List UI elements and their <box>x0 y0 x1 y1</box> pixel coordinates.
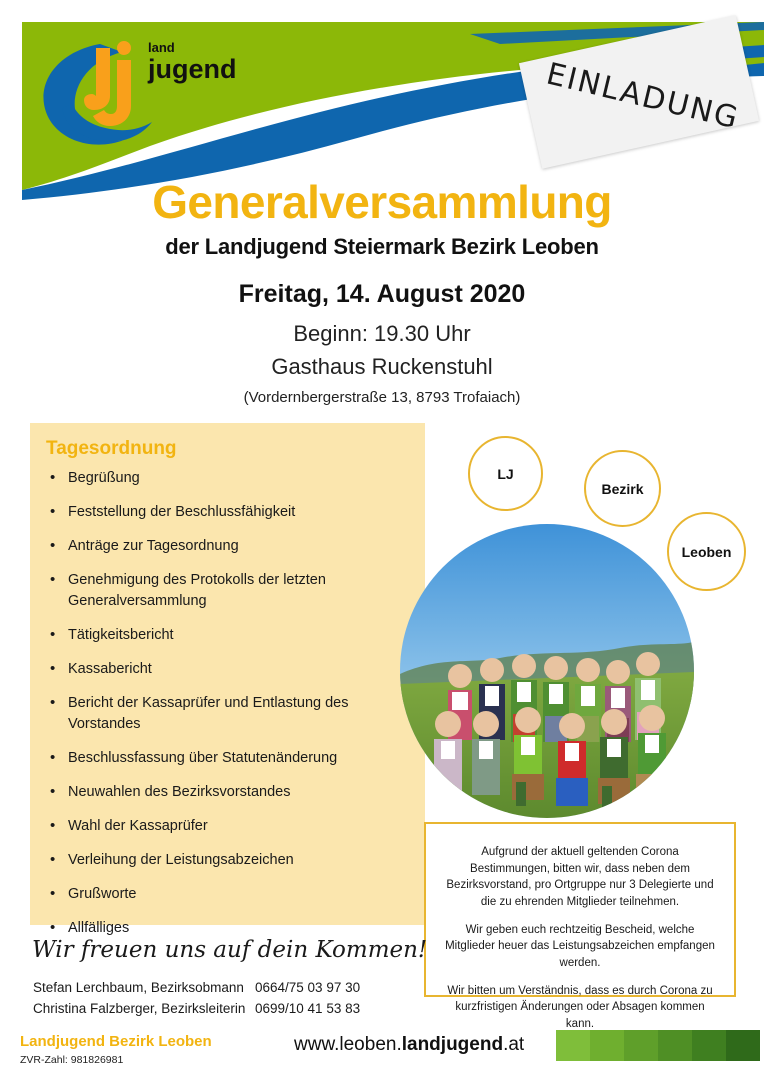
agenda-item: Neuwahlen des Bezirksvorstandes <box>46 782 386 803</box>
footer-color-bar <box>658 1030 692 1061</box>
badge-circle-lj: LJ <box>468 436 543 511</box>
contact-phone: 0699/10 41 53 83 <box>255 999 360 1020</box>
page-subtitle: der Landjugend Steiermark Bezirk Leoben <box>0 234 764 260</box>
contact-name: Stefan Lerchbaum, Bezirksobmann <box>33 978 255 999</box>
footer-color-bar <box>692 1030 726 1061</box>
agenda-item: Begrüßung <box>46 468 386 489</box>
agenda-item: Genehmigung des Protokolls der letzten G… <box>46 570 386 612</box>
badge-circle-leoben: Leoben <box>667 512 746 591</box>
corona-paragraph: Aufgrund der aktuell geltenden Corona Be… <box>442 844 718 911</box>
agenda-item: Tätigkeitsbericht <box>46 625 386 646</box>
event-venue: Gasthaus Ruckenstuhl <box>0 354 764 380</box>
agenda-item: Beschlussfassung über Statutenänderung <box>46 748 386 769</box>
event-date: Freitag, 14. August 2020 <box>0 280 764 309</box>
logo-land-text: land <box>148 40 175 55</box>
footer-color-bar <box>624 1030 658 1061</box>
contact-row: Stefan Lerchbaum, Bezirksobmann 0664/75 … <box>33 978 360 999</box>
agenda-item: Wahl der Kassaprüfer <box>46 816 386 837</box>
title-block: Generalversammlung der Landjugend Steier… <box>0 178 764 406</box>
agenda-item: Kassabericht <box>46 659 386 680</box>
url-suffix: .at <box>503 1034 524 1055</box>
corona-paragraph: Wir bitten um Verständnis, dass es durch… <box>442 983 718 1033</box>
event-address: (Vordernbergerstraße 13, 8793 Trofaiach) <box>0 389 764 406</box>
badge-circle-bezirk: Bezirk <box>584 450 661 527</box>
corona-paragraph: Wir geben euch rechtzeitig Bescheid, wel… <box>442 922 718 972</box>
closing-message: Wir freuen uns auf dein Kommen! <box>32 937 427 963</box>
url-brand: landjugend <box>402 1034 503 1055</box>
contact-row: Christina Falzberger, Bezirksleiterin 06… <box>33 999 360 1020</box>
footer-color-bar <box>556 1030 590 1061</box>
page-title: Generalversammlung <box>0 178 764 226</box>
footer-color-bar <box>726 1030 760 1061</box>
invitation-flyer: land jugend EINLADUNG Generalversammlung… <box>0 0 764 1080</box>
agenda-item: Bericht der Kassaprüfer und Entlastung d… <box>46 693 386 735</box>
event-time: Beginn: 19.30 Uhr <box>0 321 764 347</box>
footer-organization: Landjugend Bezirk Leoben <box>20 1033 212 1050</box>
footer-color-bar <box>590 1030 624 1061</box>
footer-website-url[interactable]: www.leoben.landjugend.at <box>294 1034 524 1056</box>
corona-notice-box: Aufgrund der aktuell geltenden Corona Be… <box>424 822 736 997</box>
agenda-heading: Tagesordnung <box>46 438 177 460</box>
contact-name: Christina Falzberger, Bezirksleiterin <box>33 999 255 1020</box>
contact-list: Stefan Lerchbaum, Bezirksobmann 0664/75 … <box>33 978 360 1020</box>
group-photo-image <box>400 524 694 818</box>
agenda-item: Feststellung der Beschlussfähigkeit <box>46 502 386 523</box>
footer-zvr-number: ZVR-Zahl: 981826981 <box>20 1054 123 1066</box>
footer-color-bars <box>556 1030 760 1061</box>
agenda-item: Verleihung der Leistungsabzeichen <box>46 850 386 871</box>
url-prefix: www.leoben. <box>294 1034 402 1055</box>
agenda-item: Anträge zur Tagesordnung <box>46 536 386 557</box>
group-photo <box>400 524 694 818</box>
contact-phone: 0664/75 03 97 30 <box>255 978 360 999</box>
logo-jugend-text: jugend <box>147 54 237 84</box>
agenda-list: Begrüßung Feststellung der Beschlussfähi… <box>46 468 386 952</box>
agenda-item: Grußworte <box>46 884 386 905</box>
